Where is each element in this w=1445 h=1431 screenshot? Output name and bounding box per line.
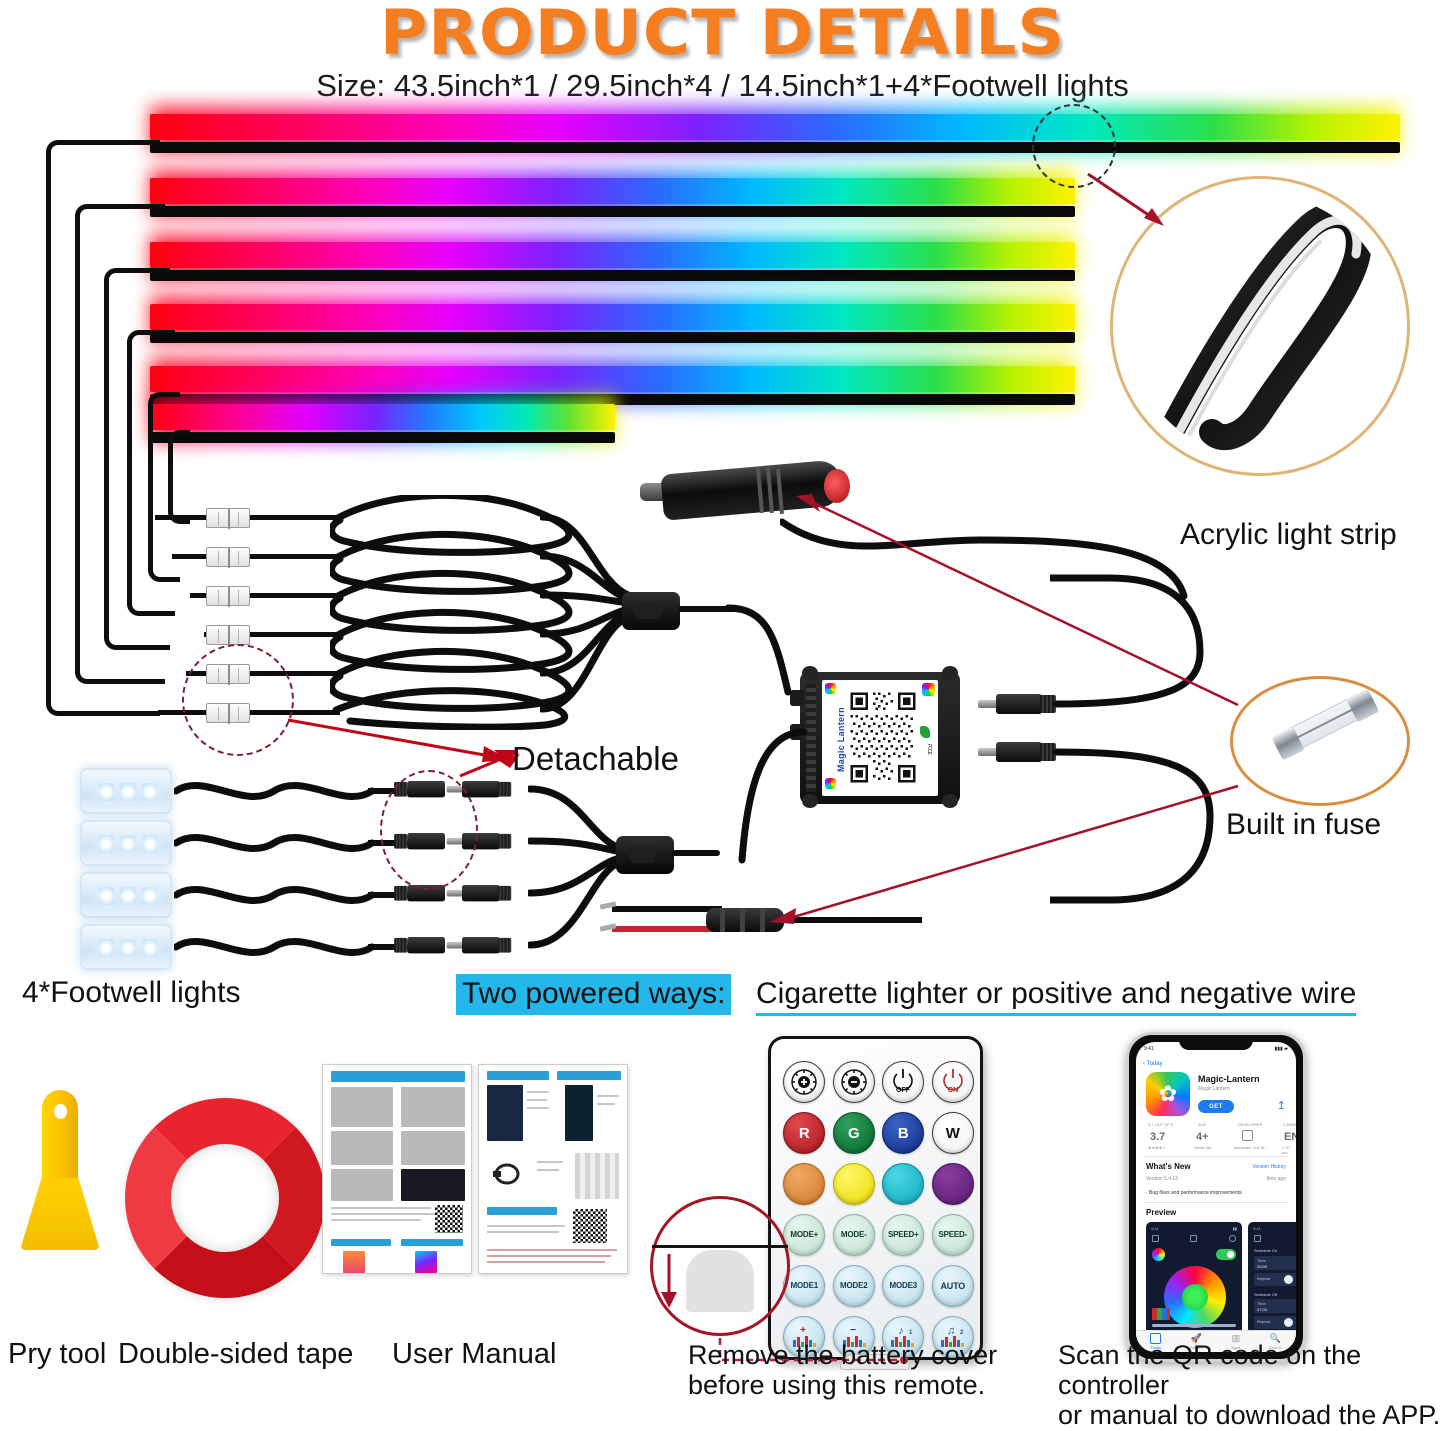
dc-barrel-plug-2 [978,742,1060,762]
bundle-wire-4 [250,632,340,637]
stat-label-language: LANGUAGE [1284,1122,1296,1127]
tape-label: Double-sided tape [118,1338,353,1371]
jst-connector-2 [206,547,250,567]
led-strip-2 [150,170,1075,216]
powered-ways-description: Cigarette lighter or positive and negati… [756,977,1356,1016]
developer-icon [1242,1130,1253,1141]
led-strip-3 [150,234,1075,280]
mode-down-label: MODE- [841,1231,867,1239]
size-subtitle: Size: 43.5inch*1 / 29.5inch*4 / 14.5inch… [0,68,1445,104]
manual-page-1 [322,1064,472,1274]
page-title: PRODUCT DETAILS [0,0,1445,69]
battery-cover-shape [686,1250,754,1312]
battery-pull-arrow-icon [658,1252,680,1312]
mode-two-button[interactable]: MODE2 [833,1265,875,1307]
svg-text:OFF: OFF [896,1087,911,1094]
brightness-down-icon [841,1069,867,1095]
footwell-lamp-1 [80,768,172,814]
color-green-button[interactable]: G [833,1112,875,1154]
footwell-cable-1 [174,776,374,806]
color-white-button[interactable]: W [932,1112,974,1154]
jst-connector-4 [206,625,250,645]
preview-screenshot-1: 9:41 ▮▮ [1146,1222,1242,1334]
divider-2 [1144,1202,1288,1203]
color-white-label: W [946,1126,960,1141]
mode-three-label: MODE3 [890,1282,917,1290]
stat-label-developer: DEVELOPER [1238,1122,1262,1127]
product-details-infographic: PRODUCT DETAILS Size: 43.5inch*1 / 29.5i… [0,0,1445,1419]
strip-core [150,304,1075,330]
app-note: Scan the QR code on the controller or ma… [1058,1340,1445,1431]
footwell-lamp-3 [80,872,172,918]
footwell-splitter-block [616,836,674,874]
version-text: Version 5.4.13 [1146,1176,1178,1182]
share-icon[interactable]: ↥ [1277,1099,1286,1112]
strip-core [150,178,1075,204]
brightness-down-button[interactable] [833,1061,875,1103]
get-button[interactable]: GET [1198,1100,1234,1113]
negative-wire [612,906,722,912]
bundle-wire-3 [250,593,340,598]
mode-three-button[interactable]: MODE3 [882,1265,924,1307]
footwell-cable-4 [174,932,374,962]
two-powered-ways-highlight: Two powered ways: [456,974,731,1015]
mode-two-label: MODE2 [840,1282,867,1290]
stat-age-value: 4+ [1196,1131,1209,1143]
footwell-connector-female-3 [462,885,528,900]
color-red-label: R [799,1126,810,1141]
color-blue-label: B [898,1126,909,1141]
app-icon: ✿ [1146,1072,1190,1116]
changelog-text: · Bug fixes and performance improvements… [1146,1190,1243,1196]
strip-core [150,404,615,430]
led-strip-1 [150,106,1400,152]
positive-wire [612,926,722,932]
pry-tool [20,1090,100,1252]
speed-up-label: SPEED+ [888,1231,919,1239]
version-history-link[interactable]: Version History [1252,1164,1286,1170]
detachable-label: Detachable [512,740,679,778]
double-sided-tape [125,1098,325,1298]
svg-text:ON: ON [948,1087,959,1094]
auto-label: AUTO [940,1282,965,1291]
stat-developer-sub: shenzhen JLA Te... [1234,1145,1268,1150]
color-orange-button[interactable] [783,1163,825,1205]
detachable-highlight-circle-1 [182,644,294,756]
preview-heading: Preview [1146,1208,1176,1217]
mode-up-button[interactable]: MODE+ [783,1214,825,1256]
phone-notch [1179,1035,1253,1050]
back-label: Today [1147,1061,1163,1067]
version-ago: 9mo ago [1267,1176,1286,1182]
remote-keypad[interactable]: OFF ON R G B W MODE+ MODE- SP [782,1061,975,1358]
pry-tool-label: Pry tool [8,1338,106,1371]
strip-backing [150,432,615,443]
svg-text:2: 2 [960,1330,964,1336]
color-purple-button[interactable] [932,1163,974,1205]
footwell-lamp-2 [80,820,172,866]
jst-connector-3 [206,586,250,606]
strip-core [150,366,1075,392]
strip-core [150,114,1400,140]
jst-connector-1 [206,508,250,528]
footwell-connector-female-4 [462,937,528,952]
footwell-cable-3 [174,880,374,910]
smartphone-app-store: 9:41 ▮▮▮ ▰ ‹ Today ✿ Magic-Lantern Magic… [1126,1032,1306,1362]
color-yellow-button[interactable] [833,1163,875,1205]
arrow-inlinefuse-to-fuse [760,782,1240,924]
strip-core [150,242,1075,268]
color-blue-button[interactable]: B [882,1112,924,1154]
strip-backing [150,142,1400,153]
divider-1 [1144,1156,1288,1157]
mode-one-label: MODE1 [791,1282,818,1290]
bundle-wire-2 [250,554,340,559]
remote-note: Remove the battery cover before using th… [688,1340,997,1400]
led-strip-6 [150,396,615,442]
mode-down-button[interactable]: MODE- [833,1214,875,1256]
arrow-cig-to-fuse [790,490,1240,710]
status-time: 9:41 [1144,1046,1154,1052]
footwell-cable-2 [174,828,374,858]
svg-text:+: + [800,1325,806,1336]
footwell-connector-male-4 [404,937,470,952]
app-name: Magic-Lantern [1198,1074,1260,1084]
ir-remote-control[interactable]: OFF ON R G B W MODE+ MODE- SP [768,1036,983,1360]
strip-backing [150,206,1075,217]
arrow-detachable-lower [452,748,520,782]
speed-down-label: SPEED- [938,1231,967,1239]
cert-marks: FC CE [918,744,932,764]
brightness-up-button[interactable] [783,1061,825,1103]
svg-text:−: − [850,1325,856,1336]
brightness-up-icon [791,1069,817,1095]
stat-language-sub: + 3? mo [1282,1145,1296,1155]
stat-label-age: AGE [1198,1122,1206,1127]
back-button[interactable]: ‹ Today [1143,1061,1163,1067]
strip-backing [150,270,1075,281]
footwell-lamp-4 [80,924,172,970]
speed-down-button[interactable]: SPEED- [932,1214,974,1256]
mode-up-label: MODE+ [790,1231,818,1239]
color-cyan-button[interactable] [882,1163,924,1205]
manual-page-2 [478,1064,628,1274]
lotus-icon: ✿ [1159,1083,1177,1105]
app-developer: Magic Lantern [1198,1086,1230,1092]
app-note-line1: Scan the QR code on the controller [1058,1340,1445,1400]
footwell-connector-female-1 [462,781,528,796]
stat-rating-value: 3.7 [1150,1131,1165,1143]
strip-wire-6 [168,430,190,524]
strip-splitter-block [622,592,680,630]
remote-note-line1: Remove the battery cover [688,1340,997,1370]
stat-language-value: EN [1284,1131,1296,1143]
stat-age-sub: Years Old [1194,1145,1211,1150]
footwell-splitter-out [672,850,720,856]
auto-button[interactable]: AUTO [932,1265,974,1307]
power-off-icon: OFF [888,1067,918,1097]
strip-backing [150,332,1075,343]
battery-cover-edge [652,1245,788,1248]
fuse-zoom-circle [1230,676,1410,806]
svg-text:♫: ♫ [947,1325,955,1337]
phone-screen: 9:41 ▮▮▮ ▰ ‹ Today ✿ Magic-Lantern Magic… [1136,1042,1296,1352]
color-red-button[interactable]: R [783,1112,825,1154]
user-manual-label: User Manual [392,1338,556,1371]
bundle-wire-1 [250,515,340,520]
power-on-icon: ON [938,1067,968,1097]
power-off-button[interactable]: OFF [882,1061,924,1103]
preview-screenshot-2: 9:41 Schedule On Time 20:00 Repeat Sched… [1248,1222,1296,1334]
footwell-lights-label: 4*Footwell lights [22,976,240,1010]
stat-stars: ★★★★☆ [1148,1145,1166,1150]
power-on-button[interactable]: ON [932,1061,974,1103]
controller-brand-text: Magic Lantern [836,702,846,772]
leaf-icon [920,726,930,738]
remote-note-line2: before using this remote. [688,1370,997,1400]
detachable-highlight-circle-2 [380,770,478,890]
arrow-strip-to-zoom [1086,170,1176,240]
status-icons: ▮▮▮ ▰ [1275,1046,1289,1052]
built-in-fuse-label: Built in fuse [1226,808,1381,842]
whats-new-heading: What's New [1146,1162,1191,1171]
app-note-line2: or manual to download the APP. [1058,1400,1445,1430]
led-strip-4 [150,296,1075,342]
color-green-label: G [848,1126,859,1141]
stat-label-ratings: 3.7 OUT OF 5 [1148,1122,1173,1127]
speed-up-button[interactable]: SPEED+ [882,1214,924,1256]
